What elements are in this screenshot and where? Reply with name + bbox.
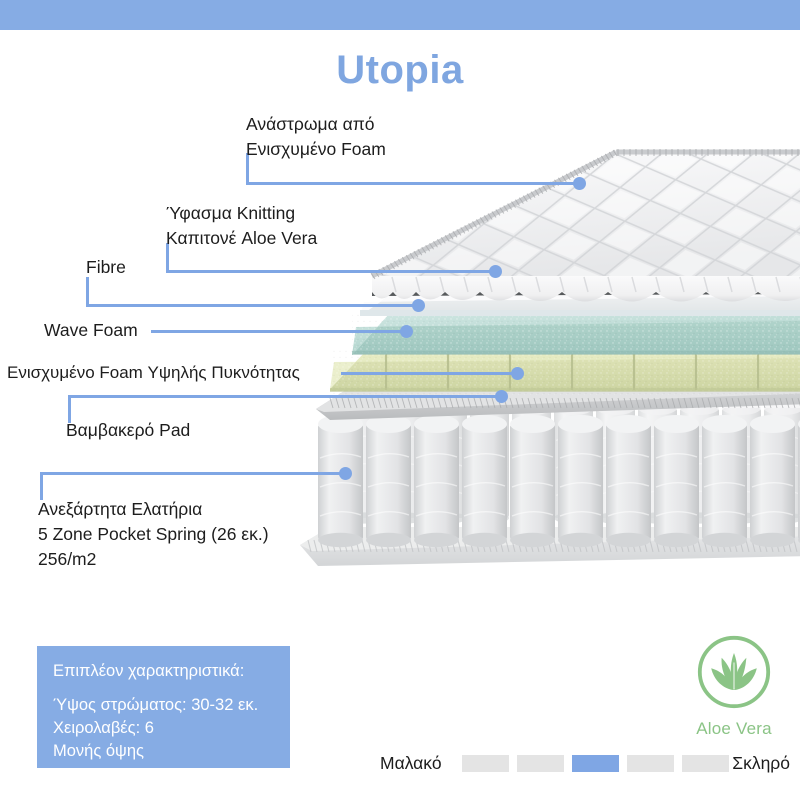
pocket-spring [510, 415, 555, 547]
dot-wave-foam [400, 325, 413, 338]
leader-spring-arm [40, 472, 343, 475]
dot-pocket-spring [339, 467, 352, 480]
aloe-vera-leaves-icon [696, 634, 772, 710]
firmness-segment-3[interactable] [572, 755, 619, 772]
pocket-spring [722, 401, 761, 524]
firmness-segment-5[interactable] [682, 755, 729, 772]
dot-hd-foam [511, 367, 524, 380]
firmness-soft-label: Μαλακό [380, 752, 442, 774]
callout-label-hd-foam: Ενισχυμένο Foam Υψηλής Πυκνότητας [7, 360, 300, 385]
extra-features-line-height: Ύψος στρώματος: 30-32 εκ. [53, 694, 274, 717]
pocket-spring [554, 401, 593, 524]
pocket-spring [512, 401, 551, 524]
firmness-scale: Μαλακό Σκληρό [380, 752, 790, 778]
pocket-spring [680, 401, 719, 524]
callout-label-cotton-pad: Βαμβακερό Pad [66, 418, 190, 443]
callout-label-pocket-spring: Ανεξάρτητα Ελατήρια 5 Zone Pocket Spring… [38, 497, 269, 572]
pocket-spring [606, 415, 651, 547]
pocket-spring [702, 415, 747, 547]
callout-label-fibre: Fibre [86, 255, 126, 280]
leader-top-foam-arm [246, 182, 579, 185]
firmness-hard-label: Σκληρό [732, 752, 790, 774]
pocket-spring [414, 415, 459, 547]
dot-fibre [412, 299, 425, 312]
extra-features-heading: Επιπλέον χαρακτηριστικά: [53, 660, 274, 682]
aloe-vera-badge: Aloe Vera [686, 634, 782, 739]
extra-features-box: Επιπλέον χαρακτηριστικά: Ύψος στρώματος:… [37, 646, 290, 768]
pocket-spring [344, 401, 383, 524]
pocket-spring [596, 401, 635, 524]
callout-label-knitting: Ύφασμα Knitting Καπιτονέ Aloe Vera [166, 201, 317, 251]
pocket-spring [654, 415, 699, 547]
pocket-spring [750, 415, 795, 547]
pocket-spring [470, 401, 509, 524]
pocket-spring [638, 401, 677, 524]
extra-features-line-sided: Μονής όψης [53, 740, 274, 763]
pocket-spring [366, 415, 411, 547]
leader-fibre-arm [86, 304, 416, 307]
callout-label-wave-foam: Wave Foam [44, 318, 138, 343]
pocket-spring [318, 415, 363, 547]
extra-features-line-handles: Χειρολαβές: 6 [53, 717, 274, 740]
dot-top-foam [573, 177, 586, 190]
leader-wave-foam-arm [151, 330, 404, 333]
leader-knitting-arm [166, 270, 493, 273]
firmness-segment-1[interactable] [462, 755, 509, 772]
callout-label-top-foam: Ανάστρωμα από Ενισχυμένο Foam [246, 112, 386, 162]
pocket-spring [462, 415, 507, 547]
aloe-vera-label: Aloe Vera [686, 719, 782, 739]
firmness-segment-4[interactable] [627, 755, 674, 772]
pocket-spring [428, 401, 467, 524]
pocket-spring [386, 401, 425, 524]
leader-spring-stem [40, 472, 43, 500]
leader-fibre-stem [86, 277, 89, 307]
dot-knitting [489, 265, 502, 278]
pocket-spring [764, 401, 800, 524]
firmness-segment-2[interactable] [517, 755, 564, 772]
top-accent-bar [0, 0, 800, 30]
leader-hd-foam-arm [341, 372, 515, 375]
leader-cotton-pad-arm [68, 395, 499, 398]
pocket-spring [558, 415, 603, 547]
dot-cotton-pad [495, 390, 508, 403]
page-title: Utopia [0, 48, 800, 93]
